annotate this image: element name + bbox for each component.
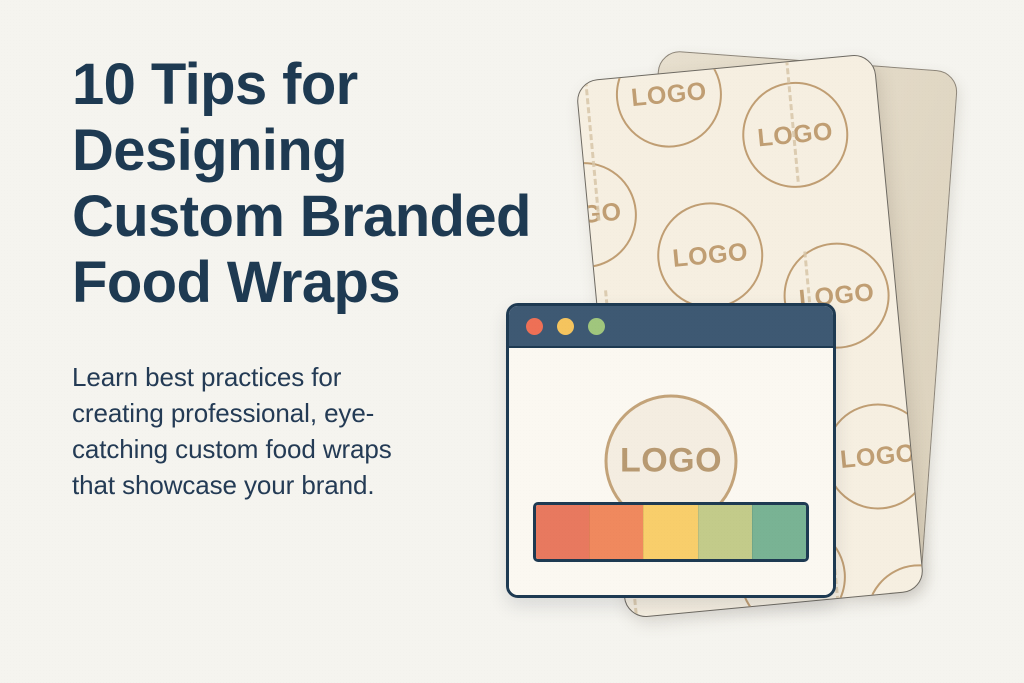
close-dot[interactable] bbox=[526, 318, 543, 335]
page-subtitle: Learn best practices for creating profes… bbox=[72, 360, 484, 504]
wrap-perforation-line bbox=[783, 53, 800, 182]
minimize-dot[interactable] bbox=[557, 318, 574, 335]
swatch-salmon[interactable] bbox=[536, 505, 589, 559]
logo-placeholder-label: LOGO bbox=[620, 442, 722, 481]
swatch-yellow[interactable] bbox=[643, 505, 697, 559]
swatch-olive[interactable] bbox=[698, 505, 752, 559]
color-palette-bar[interactable] bbox=[533, 502, 809, 562]
swatch-teal-green[interactable] bbox=[752, 505, 806, 559]
maximize-dot[interactable] bbox=[588, 318, 605, 335]
page-title: 10 Tips for Designing Custom Branded Foo… bbox=[72, 52, 602, 316]
browser-mockup[interactable]: LOGO bbox=[506, 303, 836, 598]
swatch-orange[interactable] bbox=[589, 505, 643, 559]
browser-titlebar bbox=[509, 306, 833, 348]
browser-viewport: LOGO bbox=[509, 348, 833, 595]
poster-canvas: LOGOLOGOLOGOLOGOLOGOLOGOLOGOLOGOLOGOLOGO… bbox=[0, 0, 1024, 683]
